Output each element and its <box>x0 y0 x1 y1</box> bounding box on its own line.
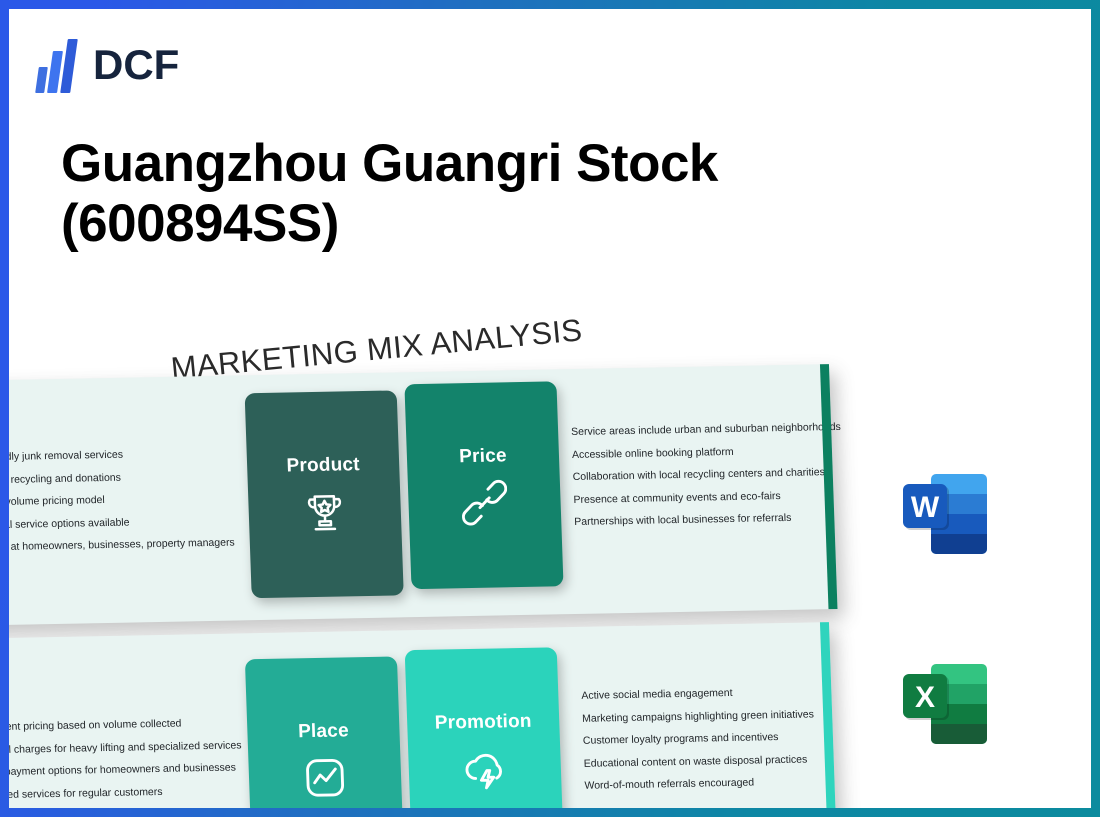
mix-card-label: Place <box>298 720 349 743</box>
list-item: Word-of-mouth referrals encouraged <box>584 776 816 791</box>
list-item: Customer loyalty programs and incentives <box>583 731 815 746</box>
list-item: Additional service options available <box>9 515 234 531</box>
microsoft-word-icon[interactable]: W <box>897 464 997 564</box>
mix-card-place: Place <box>245 656 404 808</box>
svg-text:W: W <box>911 491 940 524</box>
mix-card-promotion: Promotion <box>405 647 564 808</box>
svg-text:X: X <box>915 681 935 714</box>
list-item: Additional charges for heavy lifting and… <box>9 740 242 756</box>
trophy-icon <box>301 488 349 535</box>
page-content: DCF Guangzhou Guangri Stock (600894SS) M… <box>9 9 1091 808</box>
list-item: Discounted services for regular customer… <box>9 785 243 801</box>
price-bullet-list: Service areas include urban and suburban… <box>571 422 845 540</box>
list-item: Flexible payment options for homeowners … <box>9 762 243 778</box>
excel-icon-glyph: X <box>897 654 997 754</box>
product-bullet-list: Eco-friendly junk removal services Focus… <box>9 448 235 566</box>
promotion-bullet-list: Active social media engagement Marketing… <box>581 686 817 803</box>
word-icon-glyph: W <box>897 464 997 564</box>
list-item: Presence at community events and eco-fai… <box>573 489 843 505</box>
marketing-mix-bottom-panel: Transparent pricing based on volume coll… <box>9 622 838 808</box>
list-item: Eco-friendly junk removal services <box>9 448 232 464</box>
wave-chart-icon <box>301 754 349 801</box>
mix-card-price: Price <box>404 381 563 589</box>
panel-edge-accent <box>820 622 838 808</box>
list-item: Marketing campaigns highlighting green i… <box>582 709 814 724</box>
page-border-frame: DCF Guangzhou Guangri Stock (600894SS) M… <box>0 0 1100 817</box>
list-item: Targeted at homeowners, businesses, prop… <box>9 538 235 554</box>
cloud-lightning-icon <box>461 745 509 792</box>
list-item: Service areas include urban and suburban… <box>571 422 841 438</box>
list-item: Focus on recycling and donations <box>9 470 233 486</box>
list-item: Accessible online booking platform <box>572 444 842 460</box>
link-chain-icon <box>461 479 509 526</box>
place-bullet-list: Transparent pricing based on volume coll… <box>9 717 244 808</box>
mix-card-label: Price <box>459 445 507 468</box>
list-item: Transparent pricing based on volume coll… <box>9 717 241 733</box>
list-item: Partnerships with local businesses for r… <box>574 512 844 528</box>
mix-card-product: Product <box>245 390 404 598</box>
bar-chart-logo-icon <box>37 37 79 93</box>
microsoft-excel-icon[interactable]: X <box>897 654 997 754</box>
list-item: Pay-per-volume pricing model <box>9 493 233 509</box>
list-item: Collaboration with local recycling cente… <box>573 467 843 483</box>
brand-logo-text: DCF <box>93 44 179 86</box>
brand-logo[interactable]: DCF <box>37 37 179 93</box>
list-item: Active social media engagement <box>581 686 813 701</box>
mix-card-label: Promotion <box>434 710 532 734</box>
marketing-mix-graphic: MARKETING MIX ANALYSIS Eco-friendly junk… <box>9 339 879 808</box>
list-item: Educational content on waste disposal pr… <box>584 754 816 769</box>
page-title: Guangzhou Guangri Stock (600894SS) <box>61 134 861 255</box>
marketing-mix-top-panel: Eco-friendly junk removal services Focus… <box>9 364 837 626</box>
mix-card-label: Product <box>286 454 360 477</box>
